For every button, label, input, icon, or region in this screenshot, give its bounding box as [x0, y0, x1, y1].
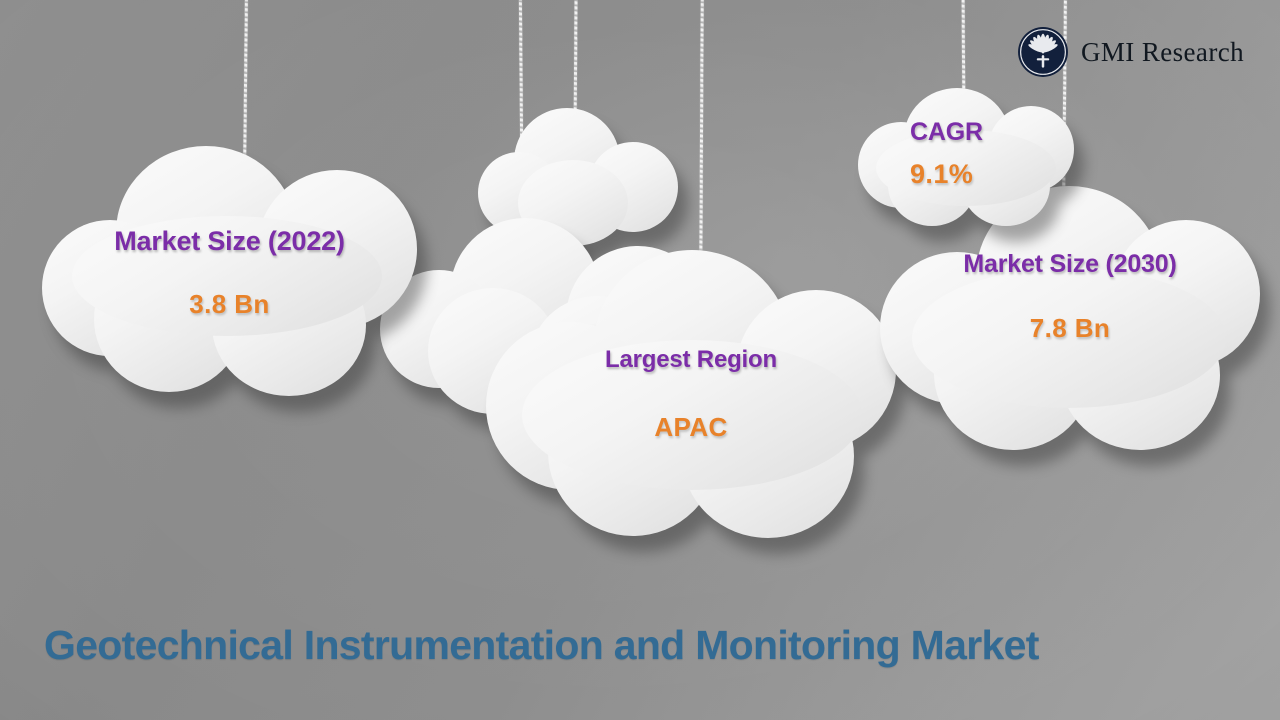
cloud-lobe [912, 268, 1226, 408]
cloud-largest-region[interactable]: Largest Region APAC [486, 250, 896, 540]
cloud-cagr[interactable]: CAGR 9.1% [858, 88, 1074, 228]
brand-logo[interactable]: GMI Research [1017, 26, 1244, 78]
cloud-market-size-2022[interactable]: Market Size (2022) 3.8 Bn [42, 146, 417, 396]
gmi-shell-fan-icon [1017, 26, 1069, 78]
cloud-lobe [876, 130, 1056, 206]
brand-wordmark: GMI Research [1081, 37, 1244, 68]
page-title: Geotechnical Instrumentation and Monitor… [44, 622, 1039, 669]
cloud-lobe [72, 216, 382, 336]
cloud-lobe [522, 340, 862, 490]
infographic-canvas: Market Size (2022) 3.8 Bn Largest Region… [0, 0, 1280, 720]
